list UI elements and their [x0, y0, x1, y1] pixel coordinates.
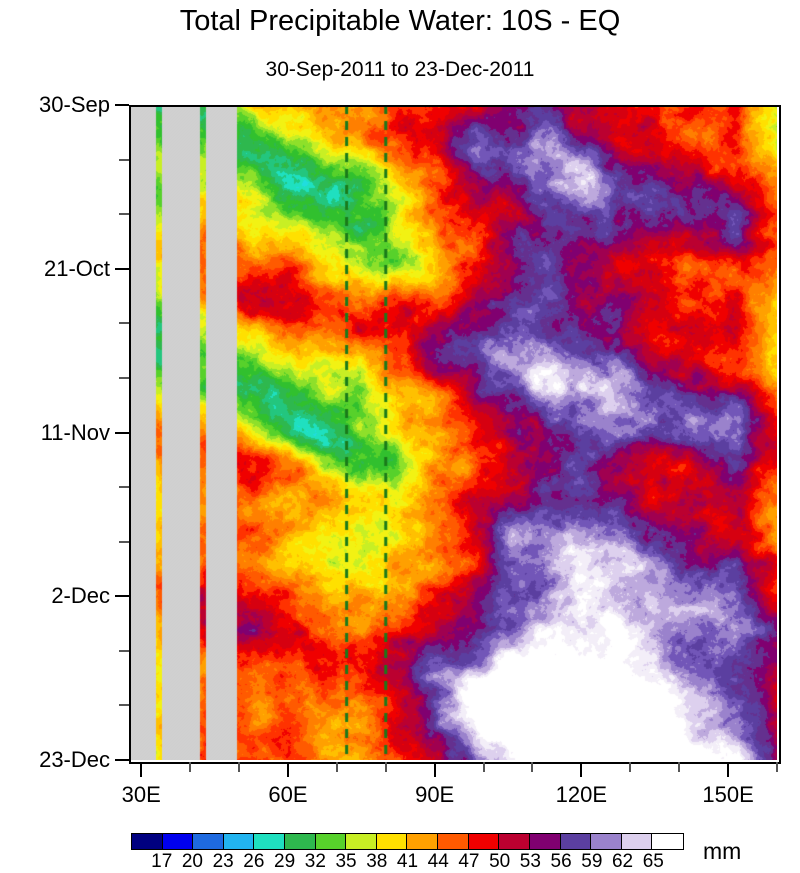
colorbar-swatch — [193, 834, 224, 849]
y-tick-minor — [119, 377, 129, 379]
colorbar-swatch — [132, 834, 163, 849]
x-tick-major — [287, 762, 289, 777]
y-axis-label: 2-Dec — [0, 585, 110, 607]
x-tick-minor — [238, 762, 240, 772]
y-tick-major — [115, 104, 129, 106]
y-tick-major — [115, 759, 129, 761]
colorbar-swatch — [285, 834, 316, 849]
x-axis-label: 30E — [71, 783, 211, 807]
y-axis-label: 11-Nov — [0, 422, 110, 444]
x-axis-label: 150E — [658, 783, 798, 807]
y-axis-label: 23-Dec — [0, 749, 110, 771]
x-tick-minor — [678, 762, 680, 772]
y-axis-label: 21-Oct — [0, 258, 110, 280]
colorbar-swatch — [316, 834, 347, 849]
x-tick-major — [727, 762, 729, 777]
colorbar-swatch — [377, 834, 408, 849]
x-axis-label: 120E — [511, 783, 651, 807]
x-axis-label: 90E — [365, 783, 505, 807]
x-tick-minor — [629, 762, 631, 772]
y-tick-minor — [119, 486, 129, 488]
colorbar-swatch — [530, 834, 561, 849]
colorbar-swatch — [163, 834, 194, 849]
chart-subtitle: 30-Sep-2011 to 23-Dec-2011 — [0, 57, 800, 82]
x-tick-minor — [531, 762, 533, 772]
colorbar-tick-label: 65 — [623, 851, 683, 872]
y-tick-minor — [119, 541, 129, 543]
y-axis-label: 30-Sep — [0, 94, 110, 116]
y-tick-major — [115, 268, 129, 270]
colorbar-swatch — [438, 834, 469, 849]
colorbar-swatch — [561, 834, 592, 849]
precipitable-water-heatmap — [129, 105, 777, 760]
x-axis-label: 60E — [218, 783, 358, 807]
hovmoller-plot-area — [129, 105, 777, 760]
y-tick-minor — [119, 650, 129, 652]
x-tick-major — [580, 762, 582, 777]
colorbar-swatch — [499, 834, 530, 849]
x-tick-major — [140, 762, 142, 777]
colorbar-swatch — [591, 834, 622, 849]
colorbar-swatch — [652, 834, 683, 849]
colorbar-swatch — [407, 834, 438, 849]
y-tick-minor — [119, 704, 129, 706]
colorbar-units-label: mm — [703, 838, 741, 864]
colorbar-swatch — [622, 834, 653, 849]
x-tick-minor — [776, 762, 778, 772]
y-tick-minor — [119, 213, 129, 215]
colorbar-swatch — [469, 834, 500, 849]
page-title: Total Precipitable Water: 10S - EQ — [0, 4, 800, 38]
colorbar — [131, 833, 684, 850]
x-tick-minor — [385, 762, 387, 772]
colorbar-swatch — [224, 834, 255, 849]
y-tick-major — [115, 432, 129, 434]
x-tick-major — [434, 762, 436, 777]
y-tick-major — [115, 595, 129, 597]
x-tick-minor — [483, 762, 485, 772]
colorbar-swatch — [254, 834, 285, 849]
colorbar-gradient — [131, 833, 684, 850]
x-tick-minor — [189, 762, 191, 772]
y-tick-minor — [119, 159, 129, 161]
x-tick-minor — [336, 762, 338, 772]
y-tick-minor — [119, 322, 129, 324]
colorbar-swatch — [346, 834, 377, 849]
